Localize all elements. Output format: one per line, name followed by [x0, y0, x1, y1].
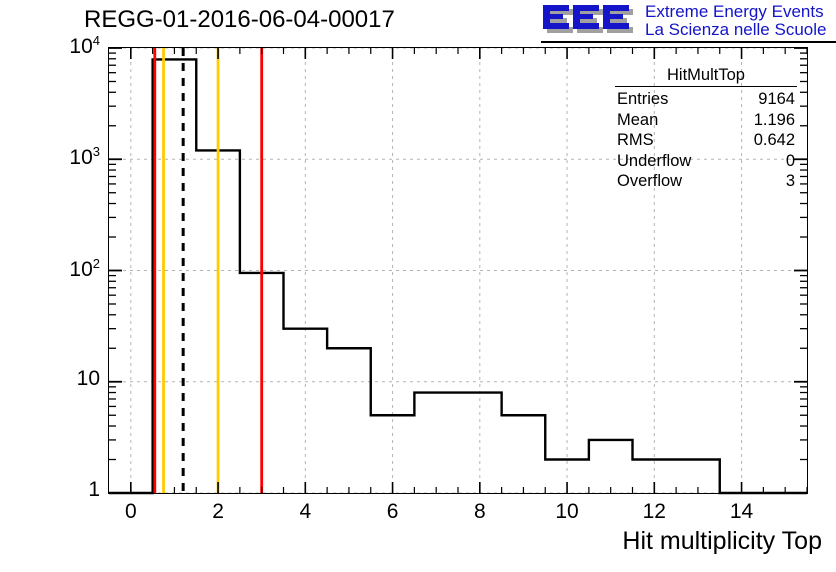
stats-row: Entries9164 [613, 89, 799, 110]
x-tick-label: 6 [363, 500, 423, 524]
y-tick-label: 104 [69, 33, 100, 59]
stats-row-label: Underflow [617, 151, 691, 172]
stats-row-value: 1.196 [754, 110, 795, 131]
stats-rows: Entries9164Mean1.196RMS0.642Underflow0Ov… [613, 89, 799, 192]
stats-box: HitMultTop Entries9164Mean1.196RMS0.642U… [613, 66, 799, 197]
stats-row-label: Mean [617, 110, 658, 131]
stats-title: HitMultTop [615, 66, 797, 87]
y-tick-label: 1 [88, 478, 100, 502]
stats-row-label: Overflow [617, 171, 682, 192]
stats-row-value: 3 [786, 171, 795, 192]
x-tick-label: 10 [537, 500, 597, 524]
x-tick-label: 12 [624, 500, 684, 524]
x-tick-label: 14 [712, 500, 772, 524]
stats-row: Mean1.196 [613, 110, 799, 131]
stats-row: Overflow3 [613, 171, 799, 192]
stats-row-value: 9164 [758, 89, 795, 110]
stats-row: Underflow0 [613, 151, 799, 172]
x-axis-title: Hit multiplicity Top [622, 527, 822, 556]
y-tick-label: 103 [69, 144, 100, 170]
x-tick-label: 4 [275, 500, 335, 524]
stats-row: RMS0.642 [613, 130, 799, 151]
stats-row-label: RMS [617, 130, 654, 151]
y-tick-label: 10 [77, 367, 100, 391]
x-tick-label: 0 [101, 500, 161, 524]
stats-row-label: Entries [617, 89, 668, 110]
stats-row-value: 0 [786, 151, 795, 172]
x-tick-label: 8 [450, 500, 510, 524]
stats-row-value: 0.642 [754, 130, 795, 151]
x-tick-label: 2 [188, 500, 248, 524]
y-tick-label: 102 [69, 256, 100, 282]
